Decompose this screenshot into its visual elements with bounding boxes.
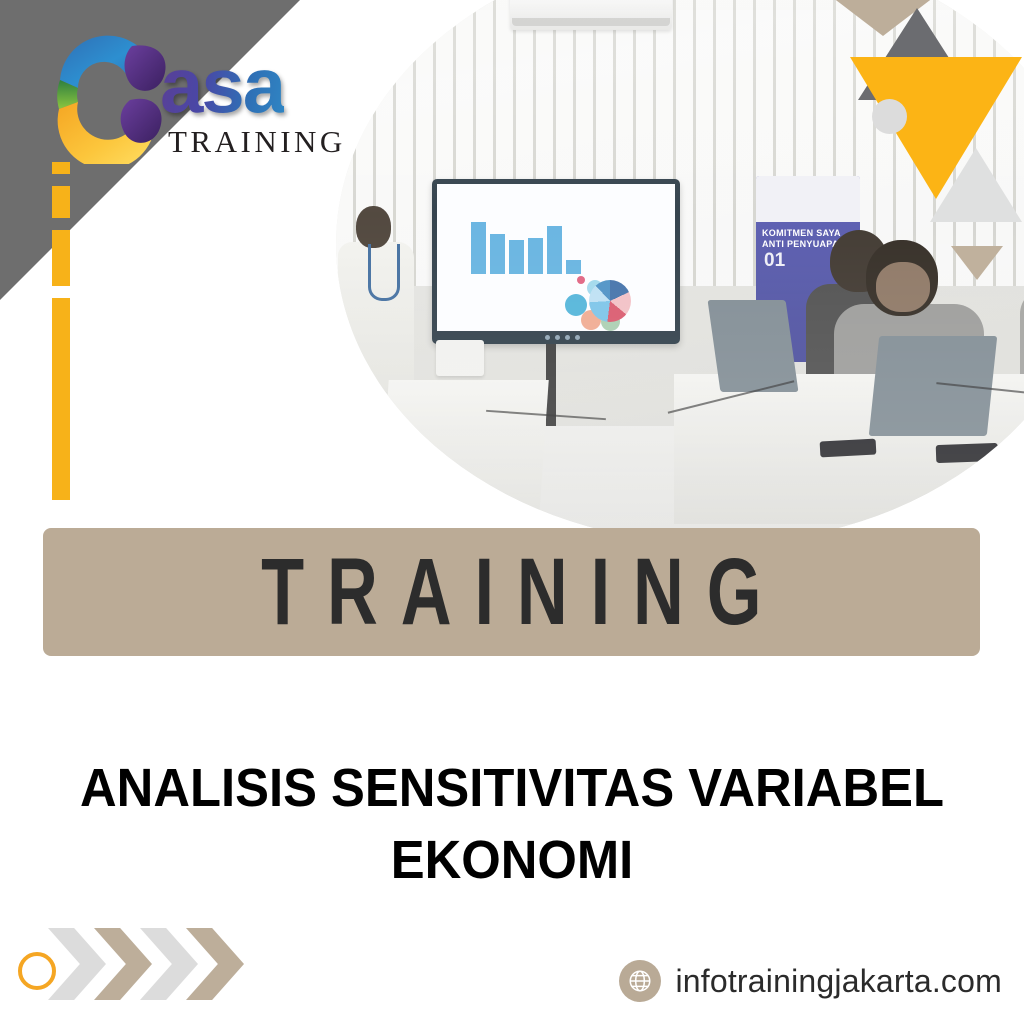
orange-ring-icon (18, 952, 56, 990)
logo-wordmark: asa (160, 46, 284, 124)
screen-content (437, 184, 675, 331)
poster-number-1: 01 (764, 250, 785, 272)
website-url[interactable]: infotrainingjakarta.com (675, 963, 1002, 1000)
presenter-head (356, 206, 391, 248)
presenter-lanyard (368, 244, 400, 301)
orange-dash-2 (52, 186, 70, 218)
poster-header (756, 176, 860, 222)
poster-canvas: KOMITMEN SAYA ANTI PENYUAPAN 01 02 (0, 0, 1024, 1024)
brand-logo: asa TRAINING (34, 14, 334, 164)
participant-c-body (1020, 288, 1024, 388)
display-screen (432, 179, 680, 344)
laptop-a (708, 300, 799, 392)
orange-dash-3 (52, 230, 70, 286)
gray-circle-icon (872, 99, 907, 134)
front-table (379, 380, 549, 516)
page-title: ANALISIS SENSITIVITAS VARIABEL EKONOMI (31, 752, 994, 896)
air-conditioner-vent (512, 18, 670, 26)
phone-b (936, 443, 999, 463)
chevron-group (18, 928, 248, 1000)
participant-b-face (876, 262, 930, 312)
projector-box (436, 340, 484, 376)
globe-icon (619, 960, 661, 1002)
orange-dash-4 (52, 298, 70, 500)
training-banner-label: TRAINING (238, 538, 784, 647)
phone-a (820, 439, 877, 458)
chevron-1-icon (48, 928, 106, 1000)
training-banner: TRAINING (43, 528, 980, 656)
slide-pie-chart (589, 280, 631, 322)
website-footer[interactable]: infotrainingjakarta.com (619, 960, 1002, 1002)
slide-bar-chart (471, 216, 567, 274)
logo-tagline: TRAINING (168, 124, 346, 160)
